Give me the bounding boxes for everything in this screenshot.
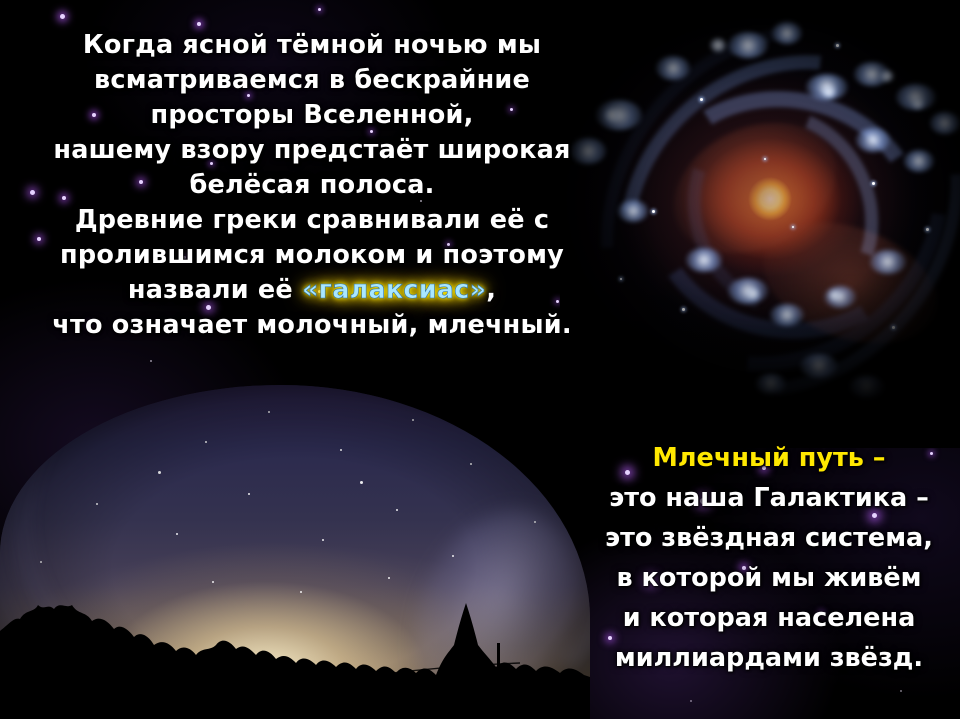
tree-silhouette — [0, 559, 590, 719]
definition-line-4: в которой мы живём — [580, 558, 958, 598]
intro-line-9: что означает молочный, млечный. — [12, 308, 612, 343]
definition-line-2: это наша Галактика – — [580, 478, 958, 518]
definition-line-6: миллиардами звёзд. — [580, 638, 958, 678]
intro-line-1: Когда ясной тёмной ночью мы — [12, 28, 612, 63]
intro-line-6: Древние греки сравнивали её с — [12, 203, 612, 238]
intro-line-2: всматриваемся в бескрайние — [12, 63, 612, 98]
intro-line-7: пролившимся молоком и поэтому — [12, 238, 612, 273]
milky-way-definition-paragraph: Млечный путь – это наша Галактика – это … — [580, 438, 958, 678]
intro-line-8-prefix: назвали её — [128, 275, 302, 305]
galaxias-highlight-word: «галаксиас» — [302, 273, 486, 308]
night-landscape-image — [0, 385, 590, 719]
intro-line-8: назвали её «галаксиас», — [12, 273, 612, 308]
definition-line-1: Млечный путь – — [580, 438, 958, 478]
definition-line-3: это звёздная система, — [580, 518, 958, 558]
intro-line-5: белёсая полоса. — [12, 168, 612, 203]
definition-line-5: и которая населена — [580, 598, 958, 638]
intro-line-8-suffix: , — [486, 275, 496, 305]
presentation-slide: Когда ясной тёмной ночью мы всматриваемс… — [0, 0, 960, 719]
intro-line-3: просторы Вселенной, — [12, 98, 612, 133]
intro-paragraph: Когда ясной тёмной ночью мы всматриваемс… — [12, 28, 612, 343]
intro-line-4: нашему взору предстаёт широкая — [12, 133, 612, 168]
spiral-galaxy-image — [560, 0, 960, 448]
